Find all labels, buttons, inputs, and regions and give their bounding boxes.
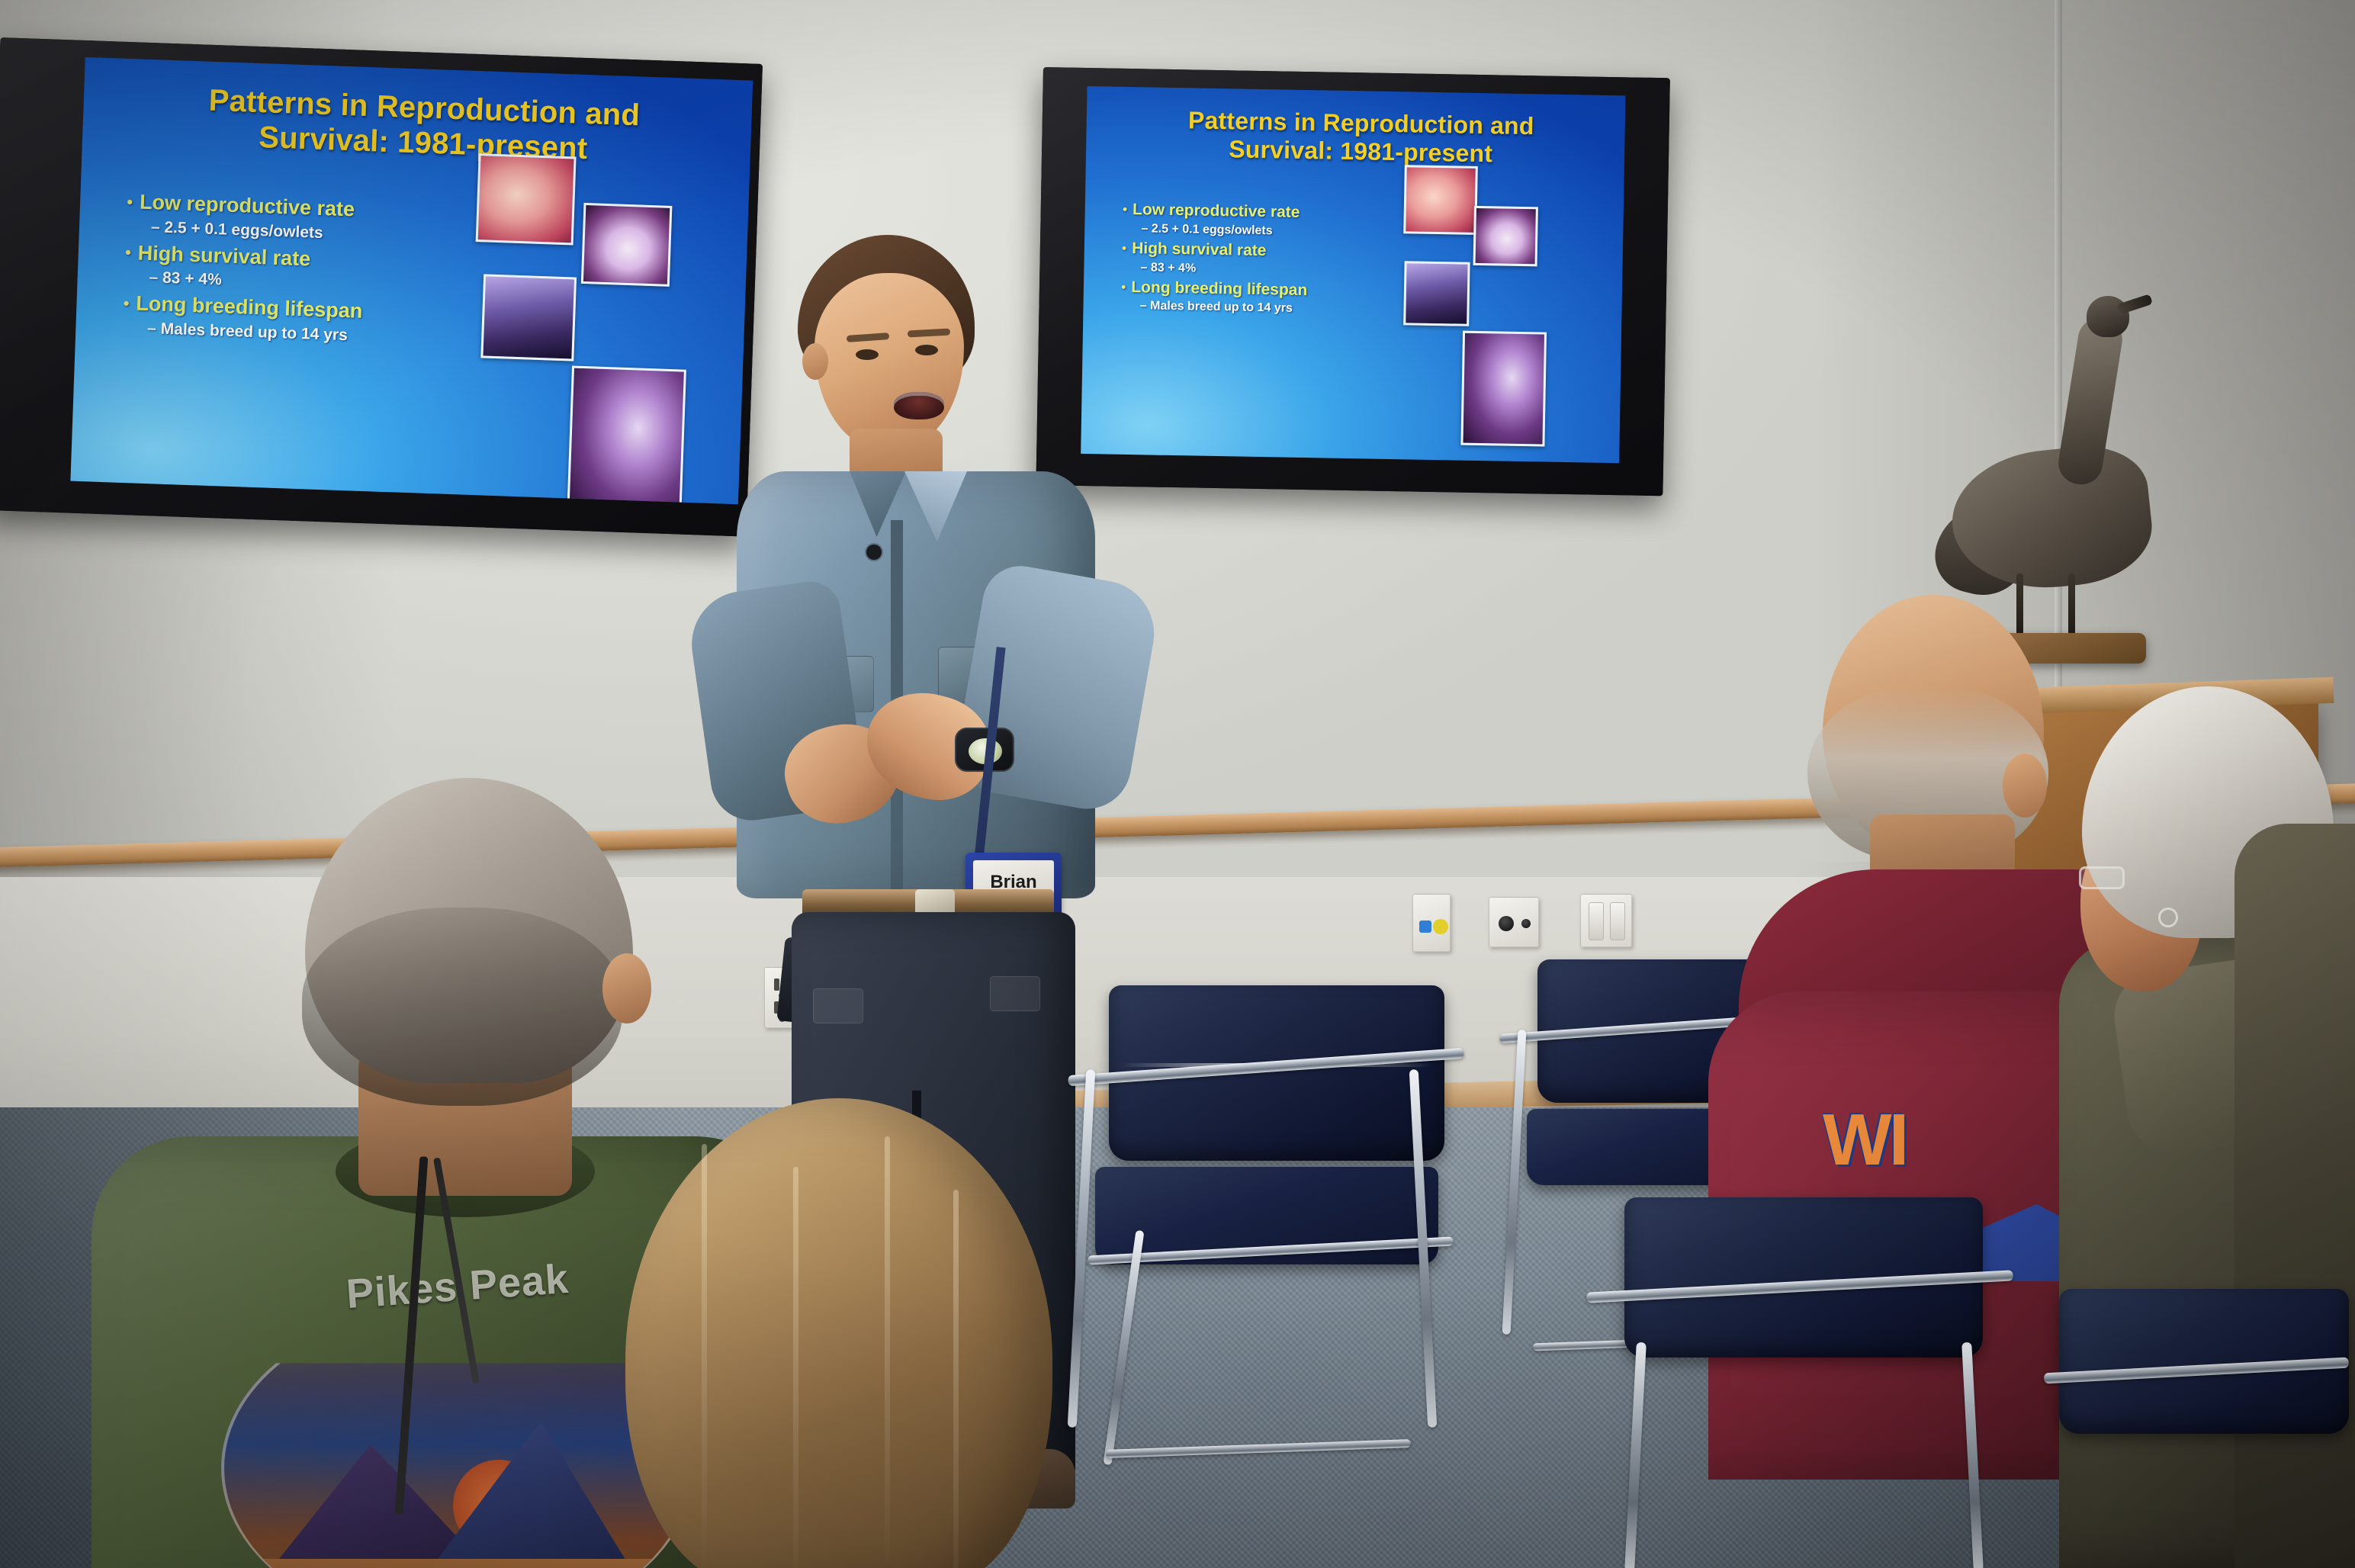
right-slide-thumb-owl-perched <box>1460 331 1547 447</box>
light-switch-right[interactable] <box>1610 902 1625 940</box>
hair-strand-3 <box>885 1136 890 1563</box>
pikes-peak-man-hair-shadow <box>302 908 622 1106</box>
name-badge-first-name: Brian <box>990 873 1036 892</box>
logo-mountain-right <box>415 1422 644 1568</box>
right-slide-thumb-egg-in-hand <box>1403 165 1478 235</box>
presenter-eye-right <box>915 345 938 355</box>
right-slide-title: Patterns in Reproduction and Survival: 1… <box>1118 105 1604 170</box>
lapel-microphone <box>866 545 882 560</box>
photo-scene: Patterns in Reproduction and Survival: 1… <box>0 0 2355 1568</box>
presenter-face <box>814 273 964 450</box>
av-control-panel-plate[interactable] <box>1412 894 1451 952</box>
hoop-earring <box>2158 908 2178 927</box>
audience-woman-blonde-hair[interactable] <box>610 1098 1098 1568</box>
presenter-pants-pocket-left <box>813 988 863 1023</box>
left-slide-thumb-owlet-nest <box>581 203 673 287</box>
av-jack-large[interactable] <box>1499 916 1514 931</box>
chair-leg-front-right <box>1961 1342 1984 1568</box>
presenter-pants-pocket-right <box>990 976 1040 1011</box>
chair-right-front[interactable] <box>1571 1190 2044 1568</box>
light-switch-left[interactable] <box>1589 902 1604 940</box>
left-slide-bullets: Low reproductive rate 2.5 + 0.1 eggs/owl… <box>122 190 515 355</box>
left-slide-thumb-owl-perched <box>567 366 686 505</box>
left-slide-title: Patterns in Reproduction and Survival: 1… <box>122 80 725 172</box>
right-slide-thumb-owlets-cavity <box>1403 261 1470 326</box>
control-panel-yellow-button[interactable] <box>1433 919 1448 934</box>
right-subbullet-1: 2.5 + 0.1 eggs/owlets <box>1141 222 1435 241</box>
pikes-peak-man-ear <box>602 953 651 1023</box>
chair-foot-rail <box>1106 1439 1411 1458</box>
left-monitor-screen: Patterns in Reproduction and Survival: 1… <box>70 57 753 504</box>
av-jack-small[interactable] <box>1521 919 1531 928</box>
chair-leg-front-left <box>1624 1342 1647 1568</box>
control-panel-blue-button[interactable] <box>1419 921 1431 933</box>
hair-strand-1 <box>702 1144 707 1568</box>
left-slide-thumb-egg-in-hand <box>476 153 577 245</box>
av-jack-plate[interactable] <box>1489 897 1539 947</box>
right-bullet-1: Low reproductive rate <box>1123 201 1435 224</box>
presenter-mouth-open <box>894 392 944 419</box>
chair-far-right-front[interactable] <box>2044 1281 2355 1568</box>
chair-leg-front-left <box>1502 1030 1527 1335</box>
crane-beak <box>2116 294 2153 315</box>
left-monitor[interactable]: Patterns in Reproduction and Survival: 1… <box>0 37 763 537</box>
blonde-woman-hair <box>625 1098 1052 1568</box>
eyeglasses <box>2079 866 2125 889</box>
hair-strand-2 <box>793 1167 798 1568</box>
chair-center-front[interactable] <box>1060 978 1518 1527</box>
right-slide-thumb-owlet-nest <box>1473 206 1538 266</box>
presenter-ear <box>802 343 828 380</box>
left-slide-thumb-owlets-cavity <box>480 274 577 361</box>
maroon-man-ear <box>2003 753 2047 818</box>
light-switch-plate[interactable] <box>1580 894 1632 947</box>
chair-leg-rear-left <box>1103 1230 1144 1466</box>
hair-strand-4 <box>953 1190 959 1568</box>
presenter-eye-left <box>856 349 879 360</box>
right-subbullet-3: Males breed up to 14 yrs <box>1140 300 1434 319</box>
right-subbullet-2: 83 + 4% <box>1140 261 1434 280</box>
